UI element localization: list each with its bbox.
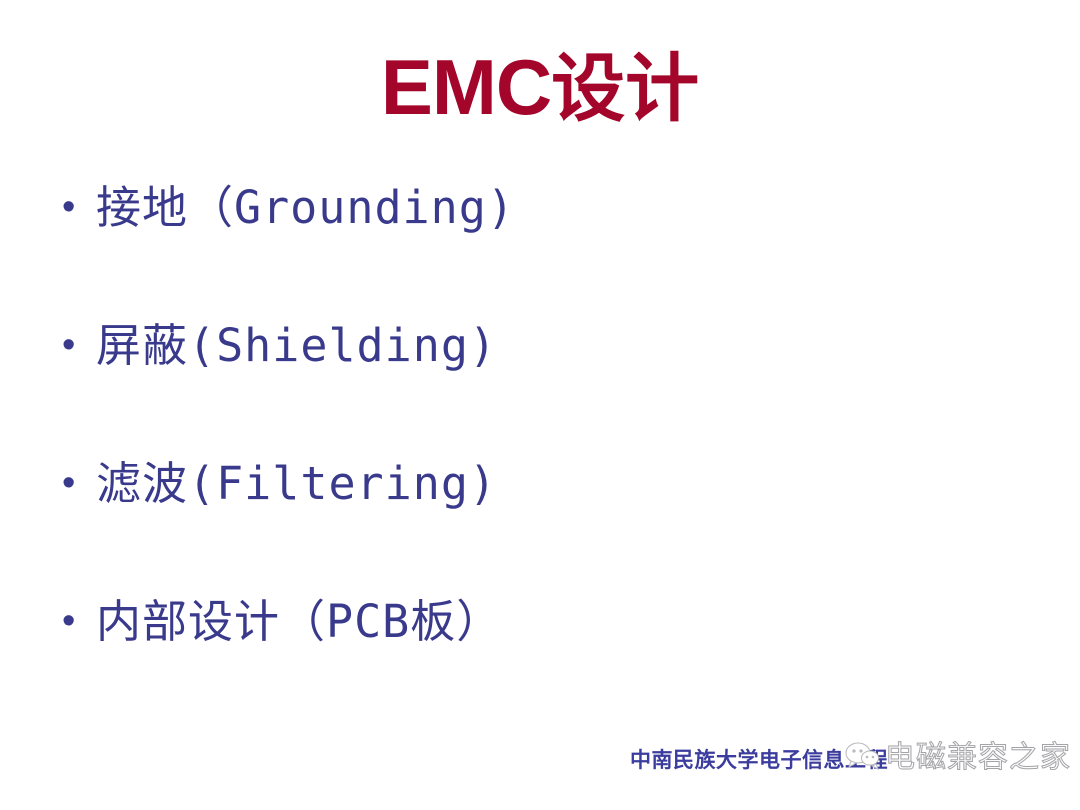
list-item: • 接地（Grounding) [58, 178, 1018, 316]
bullet-dot-icon: • [58, 316, 96, 374]
list-item: • 滤波(Filtering) [58, 454, 1018, 592]
slide-canvas: EMC设计 • 接地（Grounding) • 屏蔽(Shielding) • … [0, 0, 1080, 810]
bullet-list: • 接地（Grounding) • 屏蔽(Shielding) • 滤波(Fil… [58, 178, 1018, 730]
list-item: • 屏蔽(Shielding) [58, 316, 1018, 454]
list-item-label: 接地（Grounding) [96, 178, 1018, 238]
list-item-label: 屏蔽(Shielding) [96, 316, 1018, 376]
title-latin: EMC [381, 43, 551, 131]
footer-credit: 中南民族大学电子信息工程 [630, 746, 888, 774]
list-item: • 内部设计（PCB板） [58, 592, 1018, 730]
bullet-dot-icon: • [58, 592, 96, 650]
bullet-dot-icon: • [58, 178, 96, 236]
bullet-dot-icon: • [58, 454, 96, 512]
list-item-label: 滤波(Filtering) [96, 454, 1018, 514]
page-title: EMC设计 [0, 48, 1080, 126]
list-item-label: 内部设计（PCB板） [96, 592, 1018, 652]
watermark-label: 电磁兼容之家 [885, 741, 1071, 775]
title-cjk: 设计 [551, 46, 699, 132]
